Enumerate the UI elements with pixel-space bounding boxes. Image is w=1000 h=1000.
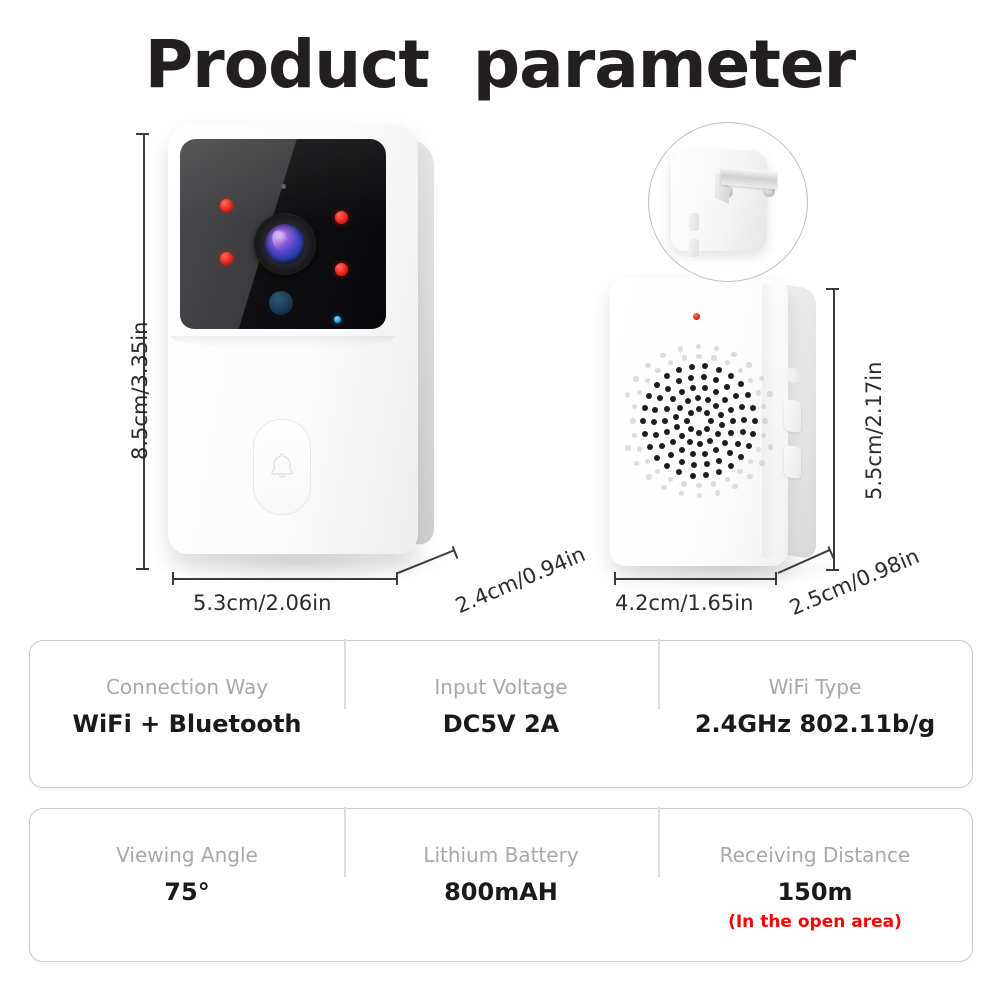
grille-hole <box>673 414 679 420</box>
wireless-chime-device <box>610 278 828 568</box>
grille-hole <box>659 443 665 449</box>
grille-hole <box>702 451 708 457</box>
doorbell-body <box>168 124 418 554</box>
grille-hole <box>702 385 708 391</box>
grille-hole <box>728 373 734 379</box>
grille-hole <box>696 430 702 436</box>
grille-hole <box>679 389 685 395</box>
chime-width-label: 4.2cm/1.65in <box>615 591 753 615</box>
camera-lens <box>254 213 316 275</box>
plug-side-tab <box>689 239 699 257</box>
grille-hole <box>668 360 673 365</box>
spec-label: Connection Way <box>106 675 268 699</box>
grille-hole <box>756 390 761 395</box>
spec-label: Input Voltage <box>434 675 567 699</box>
chime-height-label: 5.5cm/2.17in <box>862 362 886 500</box>
grille-hole <box>718 412 724 418</box>
grille-hole <box>697 441 703 447</box>
grille-hole <box>739 404 745 410</box>
grille-hole <box>665 386 671 392</box>
ir-led-icon <box>220 252 233 265</box>
spec-value: DC5V 2A <box>443 710 559 738</box>
grille-hole <box>737 469 742 474</box>
dimension-cap <box>172 572 174 585</box>
spec-cell-receiving-distance: Receiving Distance 150m (In the open are… <box>658 809 972 932</box>
grille-hole <box>715 431 721 437</box>
grille-hole <box>642 431 648 437</box>
grille-hole <box>655 368 660 373</box>
doorbell-depth-label: 2.4cm/0.94in <box>452 542 589 618</box>
grille-hole <box>637 446 642 451</box>
grille-hole <box>634 461 639 466</box>
grille-hole <box>725 477 730 482</box>
chime-melody-button[interactable] <box>784 445 801 480</box>
spec-label: Receiving Distance <box>720 843 911 867</box>
grille-hole <box>713 403 719 409</box>
doorbell-front-panel <box>180 139 386 329</box>
grille-hole <box>655 469 660 474</box>
doorbell-width-label: 5.3cm/2.06in <box>193 591 331 615</box>
grille-hole <box>664 373 670 379</box>
grille-hole <box>653 432 659 438</box>
grille-hole <box>657 395 663 401</box>
spec-row: Viewing Angle 75° Lithium Battery 800mAH… <box>30 809 972 961</box>
grille-hole <box>704 426 710 432</box>
grille-hole <box>732 484 737 489</box>
dimension-cap <box>396 572 398 585</box>
chime-height-dimension-line <box>833 288 835 570</box>
doorbell-width-dimension-line <box>172 578 397 580</box>
grille-hole <box>722 440 728 446</box>
grille-hole <box>740 429 746 435</box>
grille-hole <box>632 433 637 438</box>
grille-hole <box>642 405 648 411</box>
ir-led-icon <box>335 263 348 276</box>
grille-hole <box>745 392 751 398</box>
grille-hole <box>676 378 682 384</box>
spec-value: 800mAH <box>444 878 558 906</box>
spec-cell-input-voltage: Input Voltage DC5V 2A <box>344 641 658 738</box>
grille-hole <box>646 393 652 399</box>
chime-edge-highlight <box>762 283 776 559</box>
grille-hole <box>750 405 756 411</box>
spec-cell-viewing-angle: Viewing Angle 75° <box>30 809 344 906</box>
dimension-cap <box>826 569 839 571</box>
grille-hole <box>668 477 673 482</box>
grille-hole <box>696 344 701 349</box>
grille-hole <box>690 451 696 457</box>
grille-hole <box>750 431 756 437</box>
grille-hole <box>747 474 752 479</box>
grille-hole <box>674 424 680 430</box>
grille-hole <box>724 384 730 390</box>
grille-hole <box>625 392 630 397</box>
grille-hole <box>711 481 716 486</box>
grille-hole <box>696 406 702 412</box>
light-sensor <box>269 291 293 315</box>
spec-label: Viewing Angle <box>116 843 258 867</box>
grille-hole <box>716 367 722 373</box>
grille-hole <box>711 355 716 360</box>
plug-side-tab <box>689 213 699 231</box>
grille-hole <box>652 407 658 413</box>
grille-hole <box>688 410 694 416</box>
grille-hole <box>741 417 747 423</box>
grille-hole <box>676 367 682 373</box>
status-led-icon <box>334 316 341 323</box>
grille-hole <box>646 474 651 479</box>
grille-hole <box>708 418 714 424</box>
grille-hole <box>719 422 725 428</box>
grille-hole <box>748 459 753 464</box>
spec-value: 150m <box>777 878 852 906</box>
grille-hole <box>696 483 701 488</box>
doorbell-seam <box>170 336 396 348</box>
grille-hole <box>662 418 668 424</box>
grille-hole <box>704 410 710 416</box>
grille-hole <box>690 473 696 479</box>
grille-hole <box>704 461 710 467</box>
grille-hole <box>677 405 683 411</box>
grille-hole <box>713 377 719 383</box>
grille-hole <box>645 459 650 464</box>
grille-hole <box>690 385 696 391</box>
grille-hole <box>728 407 734 413</box>
doorbell-push-button[interactable] <box>253 419 311 515</box>
grille-hole <box>679 433 685 439</box>
grille-hole <box>697 493 702 498</box>
grille-hole <box>725 360 730 365</box>
spec-label: Lithium Battery <box>423 843 578 867</box>
grille-hole <box>633 376 638 381</box>
grille-hole <box>681 481 686 486</box>
grille-hole <box>707 438 713 444</box>
plug-back-closeup <box>648 122 808 282</box>
grille-hole <box>728 463 734 469</box>
ir-led-icon <box>220 199 233 212</box>
grille-hole <box>727 450 733 456</box>
spec-row: Connection Way WiFi + Bluetooth Input Vo… <box>30 641 972 787</box>
page-title: Product parameter <box>0 26 1000 103</box>
grille-hole <box>746 443 752 449</box>
grille-hole <box>703 472 709 478</box>
dimension-cap <box>452 546 458 559</box>
grille-hole <box>679 447 685 453</box>
grille-hole <box>664 463 670 469</box>
grille-hole <box>679 459 685 465</box>
grille-hole <box>705 397 711 403</box>
doorbell-height-label: 8.5cm/3.35in <box>128 322 152 460</box>
grille-hole <box>738 368 743 373</box>
grille-hole <box>688 375 694 381</box>
grille-hole <box>678 346 683 351</box>
grille-hole <box>691 462 697 468</box>
grille-hole <box>676 469 682 475</box>
grille-hole <box>756 447 761 452</box>
grille-hole <box>688 426 694 432</box>
spec-card-row-2: Viewing Angle 75° Lithium Battery 800mAH… <box>29 808 973 962</box>
grille-hole <box>682 355 687 360</box>
grille-hole <box>748 378 753 383</box>
grille-hole <box>687 439 693 445</box>
grille-hole <box>714 346 719 351</box>
grille-hole <box>654 382 660 388</box>
spec-cell-connection-way: Connection Way WiFi + Bluetooth <box>30 641 344 738</box>
chime-status-led-icon <box>693 313 700 320</box>
grille-hole <box>670 396 676 402</box>
dimension-cap <box>775 572 777 585</box>
grille-hole <box>696 354 701 359</box>
grille-hole <box>647 444 653 450</box>
grille-hole <box>645 378 650 383</box>
grille-hole <box>668 452 674 458</box>
grille-hole <box>640 418 646 424</box>
spec-cell-lithium-battery: Lithium Battery 800mAH <box>344 809 658 906</box>
grille-hole <box>716 458 722 464</box>
grille-hole <box>722 397 728 403</box>
grille-hole <box>735 441 741 447</box>
grille-hole <box>625 445 630 450</box>
spec-note: (In the open area) <box>728 912 902 932</box>
grille-hole <box>630 418 635 423</box>
dimension-cap <box>826 288 839 290</box>
grille-hole <box>661 485 666 490</box>
grille-hole <box>695 395 701 401</box>
grille-hole <box>632 404 637 409</box>
bell-icon <box>265 449 299 483</box>
grille-hole <box>716 469 722 475</box>
spec-value: WiFi + Bluetooth <box>72 710 301 738</box>
spec-card-row-1: Connection Way WiFi + Bluetooth Input Vo… <box>29 640 973 788</box>
grille-hole <box>664 429 670 435</box>
spec-cell-wifi-type: WiFi Type 2.4GHz 802.11b/g <box>658 641 972 738</box>
grille-hole <box>654 455 660 461</box>
grille-hole <box>733 393 739 399</box>
grille-hole <box>701 374 707 380</box>
grille-hole <box>752 418 758 424</box>
grille-hole <box>684 418 690 424</box>
grille-hole <box>738 454 744 460</box>
grille-hole <box>713 389 719 395</box>
grille-hole <box>685 398 691 404</box>
speaker-grille <box>624 336 774 506</box>
grille-hole <box>728 430 734 436</box>
grille-hole <box>679 491 684 496</box>
dimension-cap <box>614 572 616 585</box>
grille-hole <box>689 364 695 370</box>
lens-iris <box>265 224 305 264</box>
grille-hole <box>713 447 719 453</box>
grille-hole <box>702 363 708 369</box>
grille-hole <box>651 419 657 425</box>
grille-hole <box>731 352 736 357</box>
grille-hole <box>738 381 744 387</box>
plug-housing <box>671 151 767 251</box>
infographic-canvas: Product parameter <box>0 0 1000 1000</box>
grille-hole <box>715 490 720 495</box>
video-doorbell-device <box>168 124 430 564</box>
microphone-hole <box>281 184 286 189</box>
grille-hole <box>730 418 736 424</box>
dimension-cap <box>136 568 149 570</box>
spec-value: 2.4GHz 802.11b/g <box>695 710 935 738</box>
chime-volume-button[interactable] <box>784 399 801 434</box>
chime-width-dimension-line <box>614 578 776 580</box>
grille-hole <box>660 353 665 358</box>
ir-led-icon <box>335 211 348 224</box>
grille-hole <box>670 439 676 445</box>
grille-hole <box>746 362 751 367</box>
spec-label: WiFi Type <box>769 675 862 699</box>
dimension-cap <box>136 133 149 135</box>
grille-hole <box>664 406 670 412</box>
grille-hole <box>645 363 650 368</box>
spec-value: 75° <box>164 878 209 906</box>
grille-hole <box>637 390 642 395</box>
